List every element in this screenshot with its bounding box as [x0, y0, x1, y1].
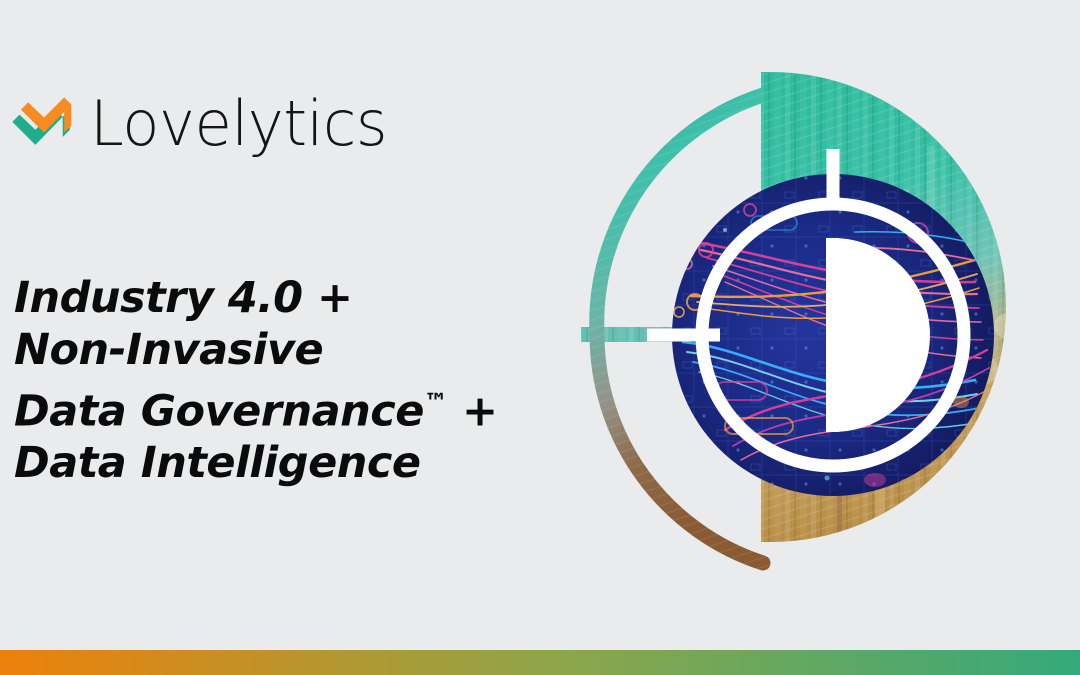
headline-line-3-suffix: + — [448, 386, 498, 436]
emblem-svg — [575, 50, 1080, 625]
page-title: Industry 4.0 + Non-Invasive Data Governa… — [14, 272, 594, 489]
pupil-stem — [826, 238, 839, 432]
brand-gradient-bar — [0, 650, 1080, 675]
lovelytics-logo[interactable]: Lovelytics — [8, 88, 393, 160]
headline-line-3-main: Data Governance — [14, 386, 424, 436]
headline-line-3: Data Governance™ + — [14, 376, 594, 437]
data-intelligence-target-emblem — [575, 50, 1080, 625]
headline-line-1: Industry 4.0 + — [14, 272, 594, 324]
trademark-symbol: ™ — [424, 388, 448, 416]
lovelytics-wordmark: Lovelytics — [90, 93, 387, 155]
lovelytics-chevron-heart-mark — [8, 88, 80, 160]
headline-line-2: Non-Invasive — [14, 324, 594, 376]
slide-canvas: Lovelytics Industry 4.0 + Non-Invasive D… — [0, 0, 1080, 675]
headline-line-4: Data Intelligence — [14, 437, 594, 489]
